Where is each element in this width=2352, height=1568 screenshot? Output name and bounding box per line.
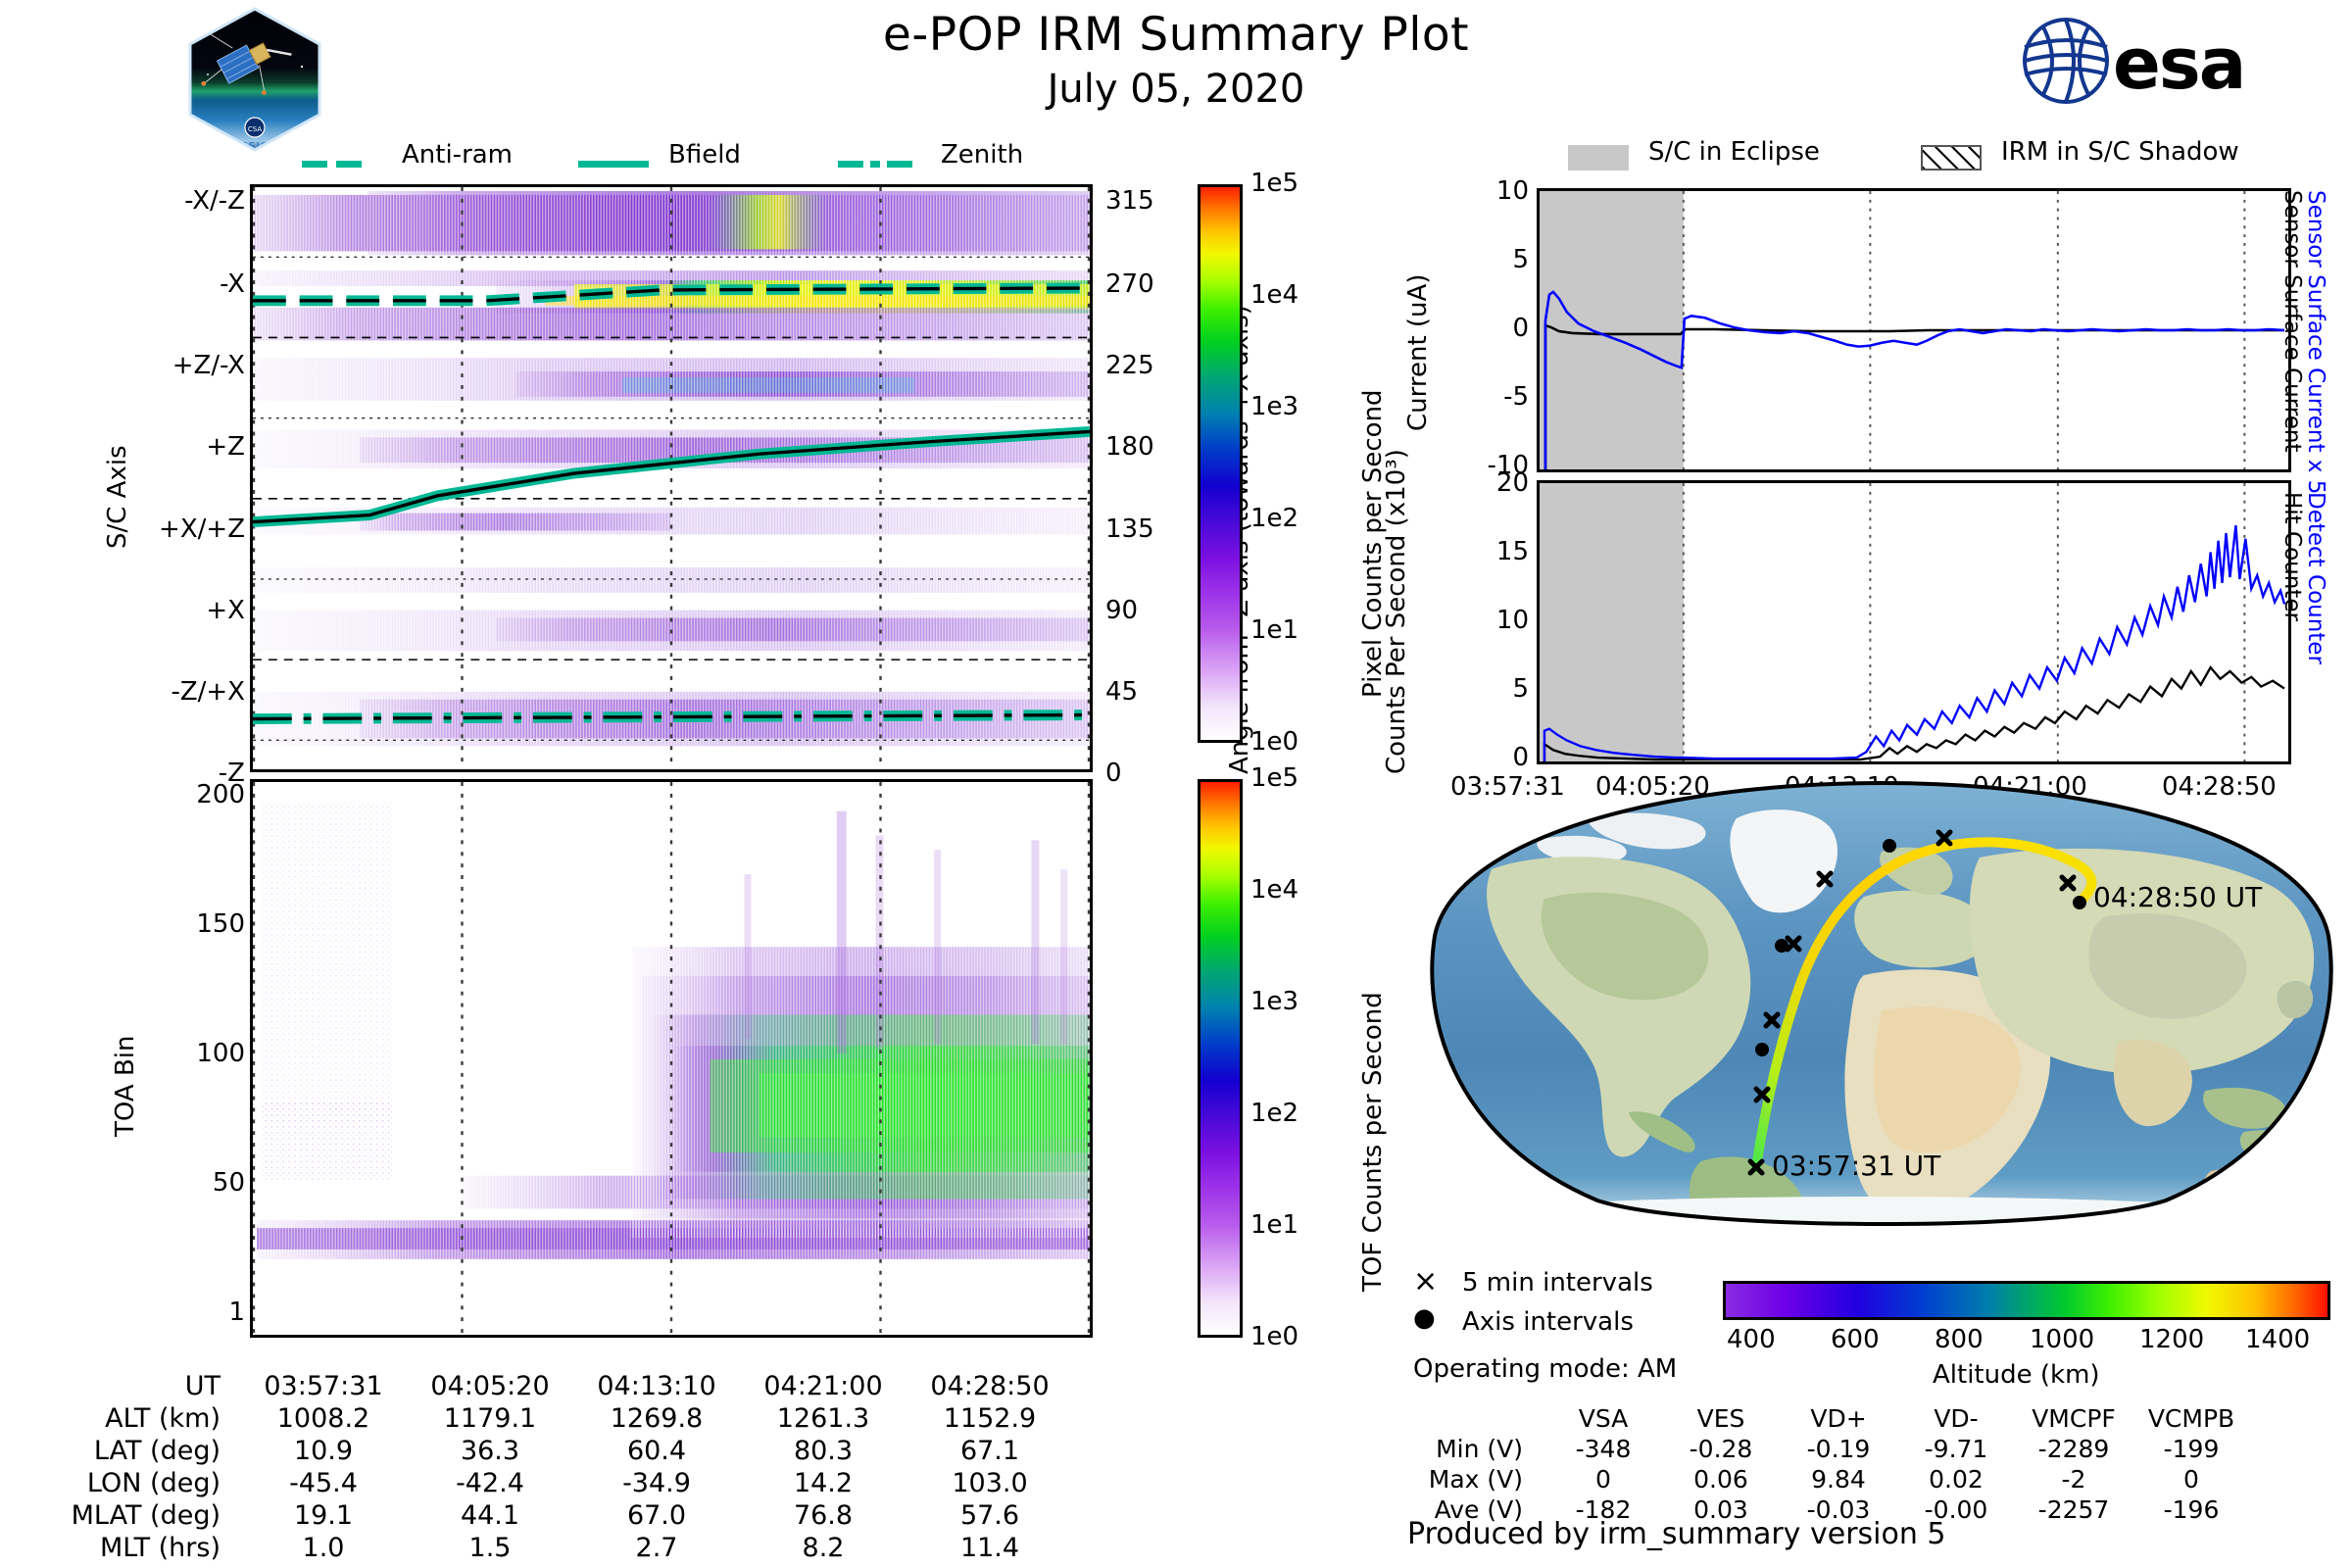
counts-ytick-labels: 20 15 10 5 0 <box>1421 468 1529 753</box>
cbar-tick: 1200 <box>2139 1325 2204 1354</box>
pixel-counts-colorbar-ticks: 1e5 1e4 1e3 1e2 1e1 1e0 <box>1250 184 1358 743</box>
cell: 2.7 <box>573 1532 740 1564</box>
cbar-tick: 1e3 <box>1250 987 1298 1016</box>
table-row: ALT (km) 1008.2 1179.1 1269.8 1261.3 115… <box>59 1402 1073 1435</box>
ytick-label: 150 <box>196 909 245 939</box>
cbar-tick: 1e2 <box>1250 1099 1298 1128</box>
cell: 8.2 <box>740 1532 906 1564</box>
cell: 1179.1 <box>407 1402 573 1435</box>
cell: -2289 <box>2015 1434 2132 1464</box>
ytick-label: 200 <box>196 780 245 809</box>
table-header-row: VSA VES VD+ VD- VMCPF VCMPB <box>1407 1403 2250 1434</box>
cell: 57.6 <box>906 1499 1073 1532</box>
cell: 60.4 <box>573 1435 740 1467</box>
ytick-label: 0 <box>1512 743 1529 772</box>
cell: 1.5 <box>407 1532 573 1564</box>
map-end-time-label: 04:28:50 UT <box>2093 881 2263 913</box>
sc-axis-right-ytick-labels: 315 270 225 180 135 90 45 0 <box>1105 181 1194 769</box>
row-label: ALT (km) <box>59 1402 240 1435</box>
ytick-label-right: 270 <box>1105 269 1154 299</box>
map-start-time-label: 03:57:31 UT <box>1772 1150 1941 1182</box>
legend-label-eclipse: S/C in Eclipse <box>1648 137 1820 167</box>
ytick-label: 50 <box>213 1168 245 1198</box>
cell: 1.0 <box>240 1532 407 1564</box>
row-label: MLT (hrs) <box>59 1532 240 1564</box>
esa-wordmark: esa <box>2113 23 2244 105</box>
five-min-marker-icon: × <box>1413 1264 1438 1298</box>
row-label: UT <box>59 1370 240 1402</box>
row-label: MLAT (deg) <box>59 1499 240 1532</box>
ytick-label: 5 <box>1512 674 1529 704</box>
ytick-label-right: 90 <box>1105 596 1138 625</box>
cbar-tick: 1e0 <box>1250 1322 1298 1351</box>
current-timeseries-panel[interactable] <box>1537 188 2291 472</box>
ytick-label: +Z/-X <box>172 351 245 380</box>
ytick-label: 100 <box>196 1039 245 1068</box>
counts-timeseries-panel[interactable] <box>1537 480 2291 764</box>
cell: 0.02 <box>1897 1464 2015 1494</box>
cbar-tick: 1e5 <box>1250 763 1298 793</box>
row-label: LON (deg) <box>59 1467 240 1499</box>
ephemeris-table: UT 03:57:31 04:05:20 04:13:10 04:21:00 0… <box>59 1370 1073 1564</box>
cell: 9.84 <box>1780 1464 1897 1494</box>
cell: -9.71 <box>1897 1434 2015 1464</box>
right-label-hit-counter: Hit Counter <box>2279 492 2305 621</box>
ytick-label: -X/-Z <box>184 186 245 216</box>
ytick-label: -5 <box>1503 382 1529 412</box>
ytick-label: 20 <box>1496 468 1529 498</box>
current-ytick-labels: 10 5 0 -5 -10 <box>1421 176 1529 461</box>
column-header: VD+ <box>1780 1403 1897 1434</box>
table-row: MLT (hrs) 1.0 1.5 2.7 8.2 11.4 <box>59 1532 1073 1564</box>
tof-counts-colorbar <box>1198 779 1243 1338</box>
cell: 04:21:00 <box>740 1370 906 1402</box>
table-row: MLAT (deg) 19.1 44.1 67.0 76.8 57.6 <box>59 1499 1073 1532</box>
cell: -0.19 <box>1780 1434 1897 1464</box>
legend-swatch-anti-ram <box>302 154 362 172</box>
cell: 0 <box>1544 1464 1662 1494</box>
cell: 04:05:20 <box>407 1370 573 1402</box>
cell: -45.4 <box>240 1467 407 1499</box>
legend-overlay-lines: Anti-ram Bfield Zenith <box>294 140 1039 179</box>
cell: 1261.3 <box>740 1402 906 1435</box>
cell: 0.06 <box>1662 1464 1780 1494</box>
cell: 04:13:10 <box>573 1370 740 1402</box>
legend-label-anti-ram: Anti-ram <box>402 140 513 170</box>
cell: 1008.2 <box>240 1402 407 1435</box>
column-header: VMCPF <box>2015 1403 2132 1434</box>
cell: 67.0 <box>573 1499 740 1532</box>
cbar-tick: 400 <box>1727 1325 1776 1354</box>
right-label-sensor-surface-current-x5: Sensor Surface Current x 5 <box>2303 190 2328 494</box>
cell: -199 <box>2132 1434 2250 1464</box>
cbar-tick: 1e1 <box>1250 1210 1298 1240</box>
cell: 19.1 <box>240 1499 407 1532</box>
cassiope-mission-patch-icon: CSA CASSIOPE <box>186 6 323 153</box>
row-label: LAT (deg) <box>59 1435 240 1467</box>
map-legend-label-axis: Axis intervals <box>1462 1307 1634 1337</box>
table-row: Min (V) -348 -0.28 -0.19 -9.71 -2289 -19… <box>1407 1434 2250 1464</box>
ytick-label: 15 <box>1496 537 1529 566</box>
row-label: Max (V) <box>1407 1464 1544 1494</box>
cell: -2 <box>2015 1464 2132 1494</box>
cell: -0.28 <box>1662 1434 1780 1464</box>
cbar-tick: 600 <box>1831 1325 1880 1354</box>
legend-label-bfield: Bfield <box>668 140 741 170</box>
column-header: VD- <box>1897 1403 2015 1434</box>
altitude-colorbar-label: Altitude (km) <box>1933 1360 2100 1390</box>
row-label: Min (V) <box>1407 1434 1544 1464</box>
ytick-label: 1 <box>228 1298 245 1327</box>
cell: 04:28:50 <box>906 1370 1073 1402</box>
axis-interval-marker-icon: ● <box>1413 1303 1436 1333</box>
cbar-tick: 1400 <box>2245 1325 2310 1354</box>
current-timeseries-canvas <box>1540 191 2288 469</box>
legend-swatch-zenith <box>838 154 912 172</box>
legend-swatch-irm-shadow <box>1921 145 1982 171</box>
current-right-labels: Sensor Surface Current x 5 Sensor Surfac… <box>2301 186 2352 480</box>
legend-swatch-eclipse <box>1568 145 1629 171</box>
cbar-tick: 1000 <box>2030 1325 2094 1354</box>
cell: 80.3 <box>740 1435 906 1467</box>
cell: 36.3 <box>407 1435 573 1467</box>
pixel-counts-colorbar <box>1198 184 1243 743</box>
cell: 11.4 <box>906 1532 1073 1564</box>
ytick-label: 5 <box>1512 245 1529 274</box>
cell: -2257 <box>2015 1494 2132 1525</box>
ytick-label: -Z/+X <box>171 677 245 707</box>
cell: 76.8 <box>740 1499 906 1532</box>
cell: -348 <box>1544 1434 1662 1464</box>
toa-bin-spectrogram-canvas <box>253 782 1090 1335</box>
right-label-sensor-surface-current: Sensor Surface Current <box>2279 190 2305 452</box>
column-header: VSA <box>1544 1403 1662 1434</box>
orbit-world-map[interactable]: 03:57:31 UT 04:28:50 UT <box>1421 779 2342 1230</box>
toa-bin-spectrogram-panel[interactable] <box>250 779 1093 1338</box>
cell: -196 <box>2132 1494 2250 1525</box>
cell: 67.1 <box>906 1435 1073 1467</box>
tof-counts-colorbar-ticks: 1e5 1e4 1e3 1e2 1e1 1e0 <box>1250 779 1358 1338</box>
sc-axis-spectrogram-panel[interactable] <box>250 184 1093 772</box>
cbar-tick: 1e0 <box>1250 727 1298 757</box>
cbar-tick: 1e2 <box>1250 504 1298 533</box>
altitude-colorbar-ticks: 400 600 800 1000 1200 1400 <box>1723 1325 2330 1358</box>
table-row: Max (V) 0 0.06 9.84 0.02 -2 0 <box>1407 1464 2250 1494</box>
ytick-label-right: 180 <box>1105 432 1154 462</box>
svg-text:CSA: CSA <box>248 125 262 133</box>
eclipse-shading <box>1540 191 1684 469</box>
counts-timeseries-canvas <box>1540 483 2288 761</box>
ytick-label: +X <box>206 596 245 625</box>
table-row: LAT (deg) 10.9 36.3 60.4 80.3 67.1 <box>59 1435 1073 1467</box>
esa-logo-icon: esa <box>2019 14 2303 102</box>
map-legend-label-5min: 5 min intervals <box>1462 1268 1653 1298</box>
cell: 10.9 <box>240 1435 407 1467</box>
toa-bin-ytick-labels: 200 150 100 50 1 <box>118 774 245 1362</box>
legend-label-zenith: Zenith <box>941 140 1023 170</box>
sc-axis-ytick-labels: -X/-Z -X +Z/-X +Z +X/+Z +X -Z/+X -Z <box>118 181 245 769</box>
eclipse-shading <box>1540 483 1684 761</box>
ytick-label-right: 225 <box>1105 351 1154 380</box>
cell: -42.4 <box>407 1467 573 1499</box>
ytick-label: -X <box>220 269 245 299</box>
counts-ylabel-text: Counts Per Second (x10³) <box>1382 449 1411 774</box>
cbar-tick: 1e3 <box>1250 392 1298 421</box>
cell: 14.2 <box>740 1467 906 1499</box>
ytick-label-right: 0 <box>1105 759 1122 788</box>
cell: 44.1 <box>407 1499 573 1532</box>
cell: 1152.9 <box>906 1402 1073 1435</box>
cell: 103.0 <box>906 1467 1073 1499</box>
cbar-tick: 1e4 <box>1250 280 1298 310</box>
table-row: UT 03:57:31 04:05:20 04:13:10 04:21:00 0… <box>59 1370 1073 1402</box>
ytick-label: 10 <box>1496 176 1529 206</box>
ytick-label: +Z <box>206 432 245 462</box>
page-title: e-POP IRM Summary Plot <box>0 8 2352 62</box>
cell: -34.9 <box>573 1467 740 1499</box>
ytick-label-right: 135 <box>1105 514 1154 544</box>
cbar-tick: 1e4 <box>1250 875 1298 905</box>
ytick-label: 0 <box>1512 314 1529 343</box>
legend-label-irm-shadow: IRM in S/C Shadow <box>2001 137 2239 167</box>
page-subtitle: July 05, 2020 <box>0 67 2352 112</box>
tof-counts-colorbar-label: TOF Counts per Second <box>1358 992 1388 1292</box>
table-row: LON (deg) -45.4 -42.4 -34.9 14.2 103.0 <box>59 1467 1073 1499</box>
cbar-tick: 1e5 <box>1250 169 1298 198</box>
column-header: VES <box>1662 1403 1780 1434</box>
operating-mode-label: Operating mode: AM <box>1413 1354 1677 1384</box>
legend-swatch-bfield <box>578 154 649 172</box>
legend-eclipse-shadow: S/C in Eclipse IRM in S/C Shadow <box>1568 137 2352 176</box>
cell: 0 <box>2132 1464 2250 1494</box>
right-label-detect-counter: Detect Counter <box>2303 492 2328 664</box>
voltage-table: VSA VES VD+ VD- VMCPF VCMPB Min (V) -348… <box>1407 1403 2250 1525</box>
ytick-label: 10 <box>1496 606 1529 635</box>
footer-produced-by: Produced by irm_summary version 5 <box>1407 1517 1945 1551</box>
cell: 03:57:31 <box>240 1370 407 1402</box>
world-map-canvas: 03:57:31 UT 04:28:50 UT <box>1421 779 2342 1230</box>
ytick-label-right: 315 <box>1105 186 1154 216</box>
column-header: VCMPB <box>2132 1403 2250 1434</box>
sc-axis-spectrogram-canvas <box>253 187 1090 769</box>
cbar-tick: 800 <box>1935 1325 1984 1354</box>
counts-ylabel: Counts Per Second (x10³) <box>1380 510 1419 794</box>
altitude-colorbar <box>1723 1281 2330 1320</box>
ytick-label: +X/+Z <box>159 514 245 544</box>
counts-right-labels: Detect Counter Hit Counter <box>2301 482 2352 776</box>
cbar-tick: 1e1 <box>1250 615 1298 645</box>
cell: 1269.8 <box>573 1402 740 1435</box>
ytick-label-right: 45 <box>1105 677 1138 707</box>
